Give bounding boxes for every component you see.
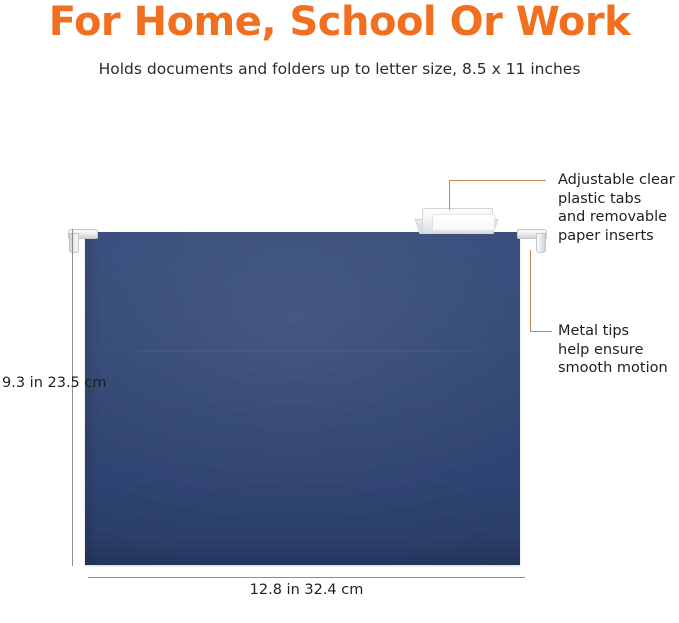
callout-metal-tips-leader-vertical (530, 250, 531, 332)
height-dimension-line (72, 229, 73, 566)
hook-tip (536, 233, 546, 253)
callout-tabs-text: Adjustable clear plastic tabs and remova… (558, 171, 679, 245)
metal-hook-right (515, 228, 547, 252)
plastic-index-tab (417, 207, 496, 234)
folder-fold-crease (85, 350, 520, 352)
width-dimension-line (88, 577, 525, 578)
folder-bottom-shadow (85, 539, 520, 565)
tab-paper-insert (432, 214, 495, 231)
callout-metal-tips-leader-horizontal (530, 331, 552, 332)
hook-tip (69, 233, 79, 253)
callout-metal-tips-text: Metal tips help ensure smooth motion (558, 322, 679, 378)
folder-fabric-texture (85, 232, 520, 565)
width-dimension-label: 12.8 in 32.4 cm (88, 581, 525, 600)
callout-tabs-leader-horizontal (449, 180, 546, 181)
callout-tabs-leader-vertical (449, 180, 450, 210)
product-illustration (0, 0, 679, 623)
tab-plate (422, 208, 493, 234)
folder-body (85, 232, 520, 565)
folder-left-shadow (85, 232, 99, 565)
height-dimension-label: 9.3 in 23.5 cm (2, 374, 66, 393)
